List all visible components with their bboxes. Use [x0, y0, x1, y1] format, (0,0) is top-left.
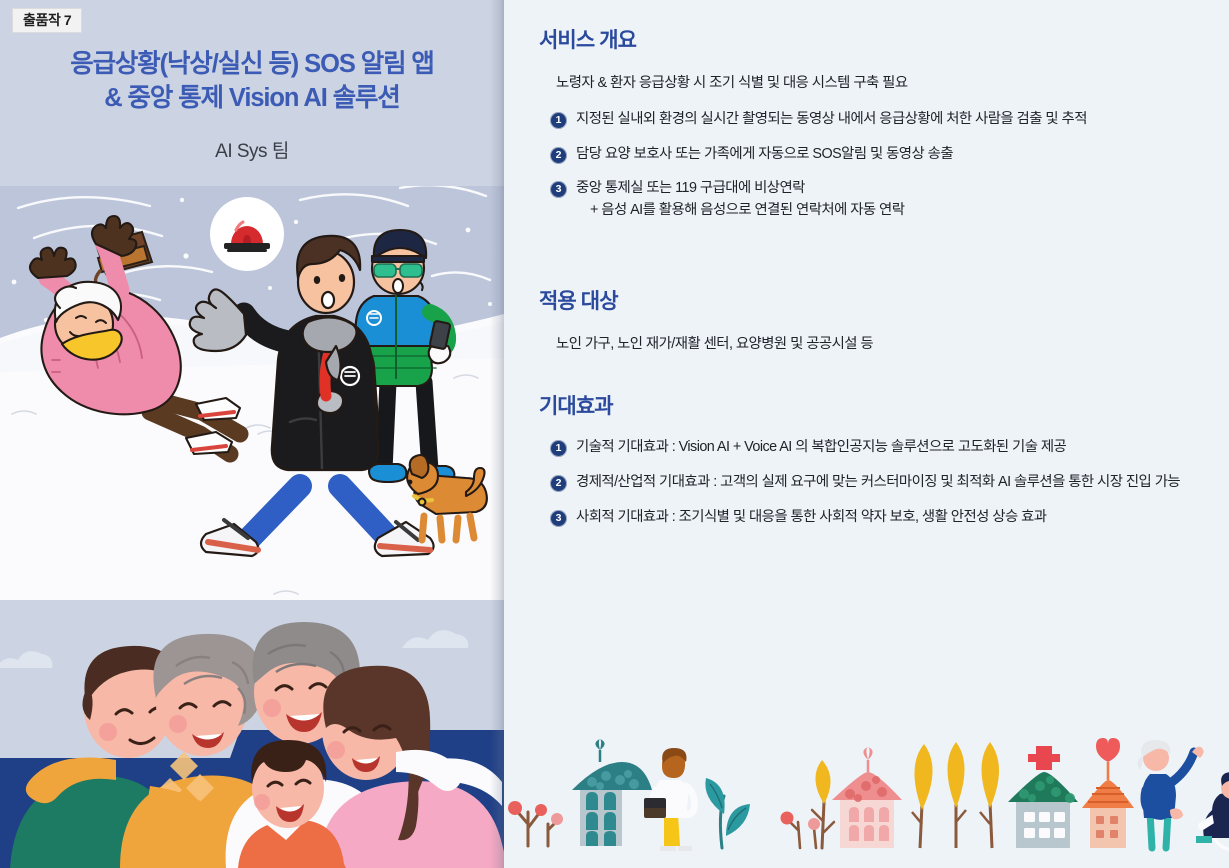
- bullet-number-icon: 2: [550, 475, 567, 492]
- family-illustration: [0, 600, 504, 868]
- standing-person-waving-icon: [1137, 740, 1203, 848]
- list-item-text: 담당 요양 보호사 또는 가족에게 자동으로 SOS알림 및 동영상 송출: [576, 144, 953, 166]
- list-item: 1 기술적 기대효과 : Vision AI + Voice AI 의 복합인공…: [550, 437, 1187, 459]
- list-item-text: 경제적/산업적 기대효과 : 고객의 실제 요구에 맞는 커스터마이징 및 최적…: [576, 472, 1180, 494]
- list-item: 2 경제적/산업적 기대효과 : 고객의 실제 요구에 맞는 커스터마이징 및 …: [550, 472, 1187, 494]
- section-target-application: 적용 대상 노인 가구, 노인 재가/재활 센터, 요양병원 및 공공시설 등: [534, 291, 1187, 356]
- berry-tree-icon: [508, 801, 563, 846]
- bullet-number-icon: 3: [550, 181, 567, 198]
- poster-title-line-1: 응급상황(낙상/실신 등) SOS 알림 앱: [0, 48, 504, 82]
- pink-house-icon: [832, 748, 902, 849]
- section-title-target-application: 적용 대상: [539, 291, 1187, 312]
- person-in-wheelchair-icon: [1196, 770, 1229, 850]
- person-with-bag-icon: [644, 748, 694, 851]
- bullet-number-icon: 1: [550, 440, 567, 457]
- list-item-text: 중앙 통제실 또는 119 구급대에 비상연락 + 음성 AI를 활용해 음성으…: [576, 178, 904, 222]
- section-title-service-overview: 서비스 개요: [539, 30, 1187, 51]
- list-item-main: 중앙 통제실 또는 119 구급대에 비상연락: [576, 180, 805, 196]
- footer-illustration-strip: [504, 728, 1229, 868]
- spacer: [534, 356, 1187, 396]
- teal-roof-building-icon: [572, 739, 652, 846]
- bullet-number-icon: 2: [550, 147, 567, 164]
- winter-scene-svg: [0, 186, 504, 616]
- siren-alarm-icon: [210, 197, 284, 271]
- section-expected-effects: 기대효과 1 기술적 기대효과 : Vision AI + Voice AI 의…: [534, 396, 1187, 529]
- team-name: AI Sys 팀: [0, 136, 504, 163]
- right-panel: 서비스 개요 노령자 & 환자 응급상황 시 조기 식별 및 대응 시스템 구축…: [504, 0, 1229, 868]
- list-item: 2 담당 요양 보호사 또는 가족에게 자동으로 SOS알림 및 동영상 송출: [550, 144, 1187, 166]
- list-item-text: 사회적 기대효과 : 조기식별 및 대응을 통한 사회적 약자 보호, 생활 안…: [576, 507, 1046, 529]
- list-item: 3 사회적 기대효과 : 조기식별 및 대응을 통한 사회적 약자 보호, 생활…: [550, 507, 1187, 529]
- list-expected-effects: 1 기술적 기대효과 : Vision AI + Voice AI 의 복합인공…: [550, 437, 1187, 529]
- entry-badge: 출품작 7: [12, 8, 82, 33]
- section-lead-target-application: 노인 가구, 노인 재가/재활 센터, 요양병원 및 공공시설 등: [556, 334, 1187, 356]
- bullet-number-icon: 3: [550, 510, 567, 527]
- section-service-overview: 서비스 개요 노령자 & 환자 응급상황 시 조기 식별 및 대응 시스템 구축…: [534, 30, 1187, 222]
- section-title-expected-effects: 기대효과: [539, 396, 1187, 417]
- title-block: 응급상황(낙상/실신 등) SOS 알림 앱 & 중앙 통제 Vision AI…: [0, 48, 504, 163]
- berry-tree-icon: [781, 812, 821, 849]
- bullet-number-icon: 1: [550, 112, 567, 129]
- list-item-text: 기술적 기대효과 : Vision AI + Voice AI 의 복합인공지능…: [576, 437, 1066, 459]
- leaf-plant-icon: [705, 778, 750, 848]
- heart-house-icon: [1082, 738, 1134, 848]
- list-item-sub: + 음성 AI를 활용해 음성으로 연결된 연락처에 자동 연락: [576, 200, 904, 222]
- list-item: 1 지정된 실내외 환경의 실시간 촬영되는 동영상 내에서 응급상황에 처한 …: [550, 109, 1187, 131]
- list-item-text: 지정된 실내외 환경의 실시간 촬영되는 동영상 내에서 응급상황에 처한 사람…: [576, 109, 1087, 131]
- poster-root: 출품작 7 응급상황(낙상/실신 등) SOS 알림 앱 & 중앙 통제 Vis…: [0, 0, 1229, 868]
- list-item: 3 중앙 통제실 또는 119 구급대에 비상연락 + 음성 AI를 활용해 음…: [550, 178, 1187, 222]
- left-panel: 출품작 7 응급상황(낙상/실신 등) SOS 알림 앱 & 중앙 통제 Vis…: [0, 0, 504, 868]
- section-lead-service-overview: 노령자 & 환자 응급상황 시 조기 식별 및 대응 시스템 구축 필요: [556, 73, 1187, 95]
- poster-title-line-2: & 중앙 통제 Vision AI 솔루션: [0, 82, 504, 116]
- yellow-poplar-trees-icon: [912, 742, 999, 848]
- family-scene-svg: [0, 600, 504, 868]
- footer-strip-svg: [504, 728, 1229, 868]
- spacer: [534, 235, 1187, 291]
- winter-scene-illustration: [0, 186, 504, 616]
- list-service-overview: 1 지정된 실내외 환경의 실시간 촬영되는 동영상 내에서 응급상황에 처한 …: [550, 109, 1187, 223]
- hospital-building-icon: [1008, 746, 1078, 848]
